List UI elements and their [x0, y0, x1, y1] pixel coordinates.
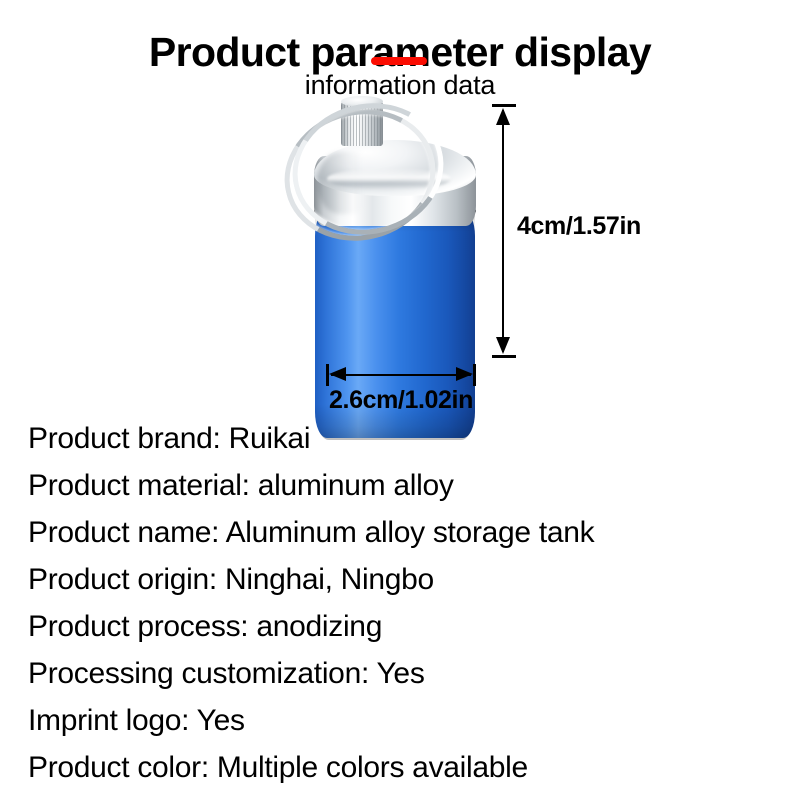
width-arrow-shaft	[331, 374, 471, 376]
spec-item: Product material: aluminum alloy	[28, 462, 772, 509]
width-arrowhead-right	[456, 367, 473, 381]
page-subtitle: information data	[0, 69, 800, 101]
height-arrowhead-up	[496, 108, 510, 125]
height-tick-bottom	[492, 355, 516, 358]
height-dimension-label: 4cm/1.57in	[517, 212, 641, 241]
title-underline-rule	[371, 57, 427, 65]
width-tick-right	[473, 364, 476, 386]
spec-item: Processing customization: Yes	[28, 650, 772, 697]
height-arrowhead-down	[496, 337, 510, 354]
spec-item: Product process: anodizing	[28, 603, 772, 650]
spec-item: Product origin: Ninghai, Ningbo	[28, 556, 772, 603]
width-arrowhead-left	[329, 367, 346, 381]
height-arrow-shaft	[502, 110, 504, 352]
width-dimension-label: 2.6cm/1.02in	[326, 386, 476, 415]
height-tick-top	[492, 104, 516, 107]
spec-item: Product brand: Ruikai	[28, 415, 772, 462]
width-dimension-arrow	[326, 364, 476, 388]
spec-item: Imprint logo: Yes	[28, 697, 772, 744]
spec-item: Product name: Aluminum alloy storage tan…	[28, 509, 772, 556]
spec-item: Product color: Multiple colors available	[28, 744, 772, 791]
specification-list: Product brand: Ruikai Product material: …	[28, 415, 772, 791]
